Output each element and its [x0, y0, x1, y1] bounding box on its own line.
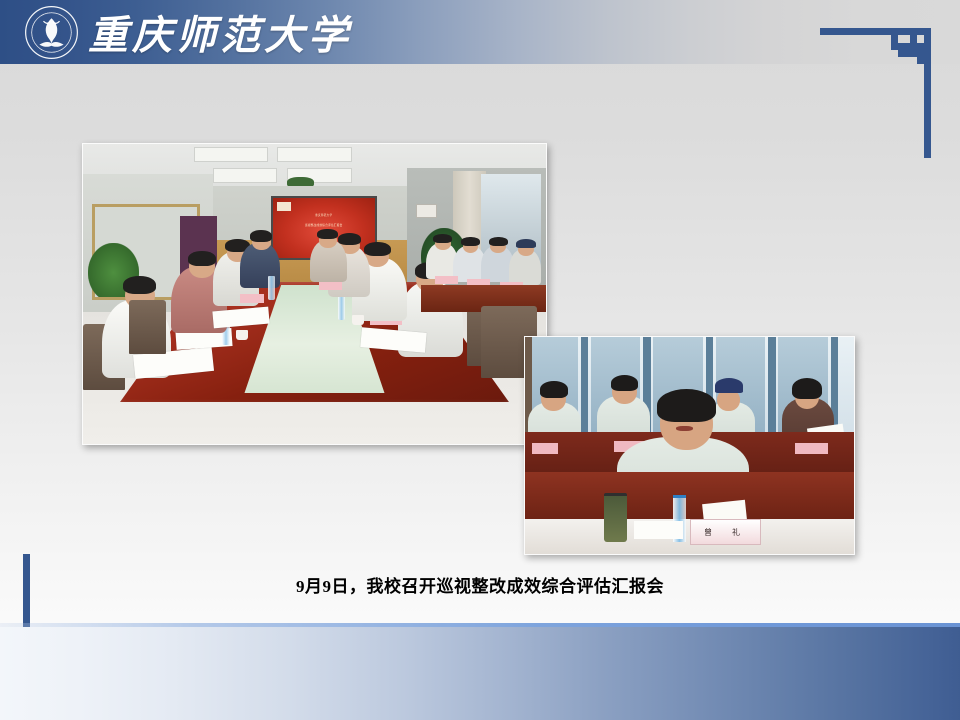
conference-room-wide-shot[interactable]: 重庆师范大学 巡视整改成效综合评估汇报会 [82, 143, 547, 445]
corner-bracket-ornament-icon [820, 10, 938, 158]
projector-screen-line-1: 重庆师范大学 [273, 214, 375, 218]
header-band: 重庆师范大学 [0, 0, 960, 64]
speaker-close-up[interactable]: 曾 礼 [524, 336, 855, 555]
speaker-nameplate-label: 曾 礼 [704, 527, 746, 538]
speaker-nameplate: 曾 礼 [690, 519, 761, 545]
projector-screen-line-2: 巡视整改成效综合评估汇报会 [273, 224, 375, 228]
university-name-title: 重庆师范大学 [88, 4, 352, 60]
bottom-band [0, 627, 960, 720]
slide-canvas: 重庆师范大学 [0, 0, 960, 720]
university-seal-icon [24, 5, 79, 60]
slide-caption: 9月9日，我校召开巡视整改成效综合评估汇报会 [0, 572, 960, 597]
